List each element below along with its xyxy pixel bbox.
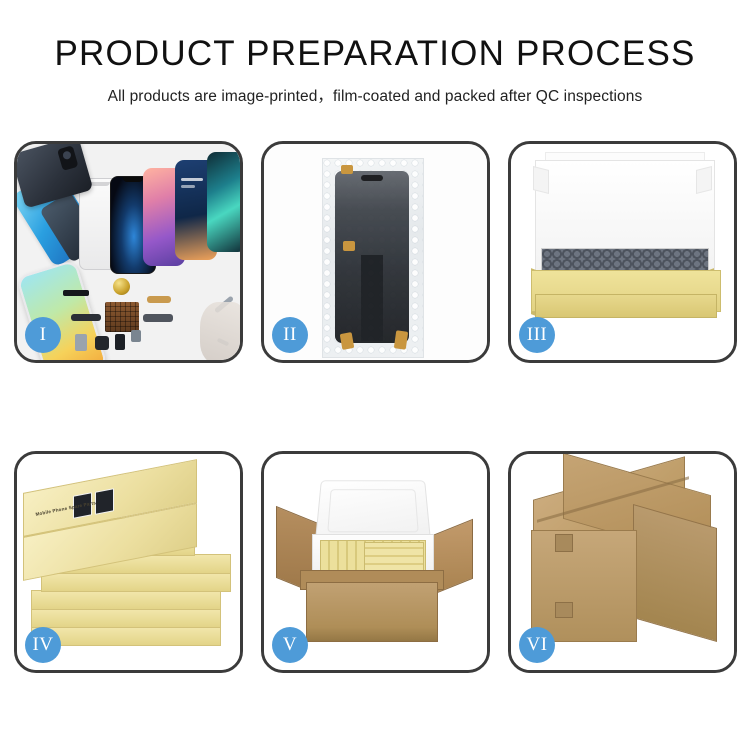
page-subtitle: All products are image-printed，film-coat… <box>0 84 750 106</box>
product-preparation-process-page: PRODUCT PREPARATION PROCESS All products… <box>0 0 750 750</box>
adhesive-tab-icon <box>394 330 408 349</box>
box-layer-icon <box>31 608 221 628</box>
speaker-coil-icon <box>113 278 130 295</box>
process-step-grid: I II <box>14 141 736 673</box>
box-lid-tab-icon <box>533 166 549 194</box>
box-front-panel-icon <box>535 294 717 318</box>
carton-front-face-icon <box>531 530 637 642</box>
part-strip-icon <box>63 290 89 296</box>
printed-screen-image-icon <box>95 488 114 515</box>
box-layer-icon <box>31 590 221 610</box>
step-badge-4: IV <box>25 627 61 663</box>
ui-line-icon <box>181 178 203 181</box>
lcd-screen-icon <box>335 171 409 343</box>
box-layer-icon <box>41 572 231 592</box>
flex-cable-icon <box>361 255 383 341</box>
process-step-panel-2[interactable]: II <box>261 141 490 363</box>
step-badge-6: VI <box>519 627 555 663</box>
part-strip-icon <box>71 314 101 321</box>
adhesive-tab-icon <box>343 241 355 251</box>
process-step-panel-5[interactable]: V <box>261 451 490 673</box>
camera-cutout-icon <box>361 175 383 181</box>
process-step-panel-6[interactable]: VI <box>508 451 737 673</box>
small-part-icon <box>95 336 109 350</box>
page-title: PRODUCT PREPARATION PROCESS <box>0 36 750 71</box>
process-step-panel-1[interactable]: I <box>14 141 243 363</box>
flex-cable-icon <box>143 314 173 322</box>
flex-cable-icon <box>147 296 171 303</box>
carton-body-icon <box>306 582 438 642</box>
process-step-panel-3[interactable]: III <box>508 141 737 363</box>
small-part-icon <box>131 330 141 342</box>
notch-icon <box>123 177 143 182</box>
box-lid-tab-icon <box>696 166 712 194</box>
adhesive-tab-icon <box>340 332 355 350</box>
step-badge-5: V <box>272 627 308 663</box>
step-badge-1: I <box>25 317 61 353</box>
carton-side-face-icon <box>633 504 717 642</box>
small-part-icon <box>115 334 125 350</box>
bubble-wrap-bag-icon <box>322 158 424 358</box>
carton-tape-patch-icon <box>555 602 573 618</box>
hand-icon <box>200 302 243 363</box>
carton-tape-patch-icon <box>555 534 573 552</box>
small-part-icon <box>75 334 87 351</box>
phone-display-teal-icon <box>207 152 243 252</box>
adhesive-tab-icon <box>341 165 353 174</box>
step-badge-2: II <box>272 317 308 353</box>
chip-board-icon <box>105 302 139 332</box>
ui-line-icon <box>181 185 195 188</box>
page-header: PRODUCT PREPARATION PROCESS All products… <box>0 0 750 106</box>
process-step-panel-4[interactable]: Mobile Phone Spare Parts Mobile Phone Sp… <box>14 451 243 673</box>
step-badge-3: III <box>519 317 555 353</box>
camera-module-icon <box>57 145 78 171</box>
